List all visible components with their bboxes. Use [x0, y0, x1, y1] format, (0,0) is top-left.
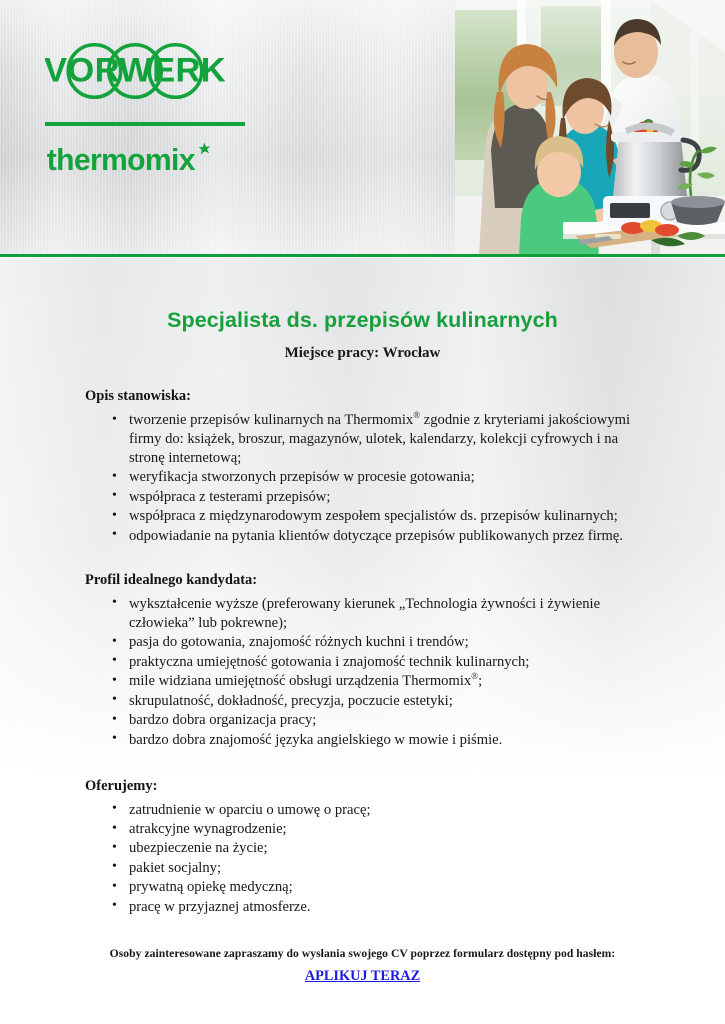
- section-offer: Oferujemy: zatrudnienie w oparciu o umow…: [0, 778, 725, 917]
- list-item-text: weryfikacja stworzonych przepisów w proc…: [129, 469, 475, 485]
- list-item: praktyczna umiejętność gotowania i znajo…: [112, 653, 655, 672]
- duties-list: tworzenie przepisów kulinarnych na Therm…: [0, 411, 725, 546]
- vorwerk-logo: VORWERK: [45, 40, 225, 102]
- list-item: zatrudnienie w oparciu o umowę o pracę;: [112, 801, 655, 820]
- page-title: Specjalista ds. przepisów kulinarnych: [0, 308, 725, 333]
- list-item-text: pasja do gotowania, znajomość różnych ku…: [129, 634, 469, 650]
- header-green-rule: [0, 254, 725, 257]
- section-duties: Opis stanowiska: tworzenie przepisów kul…: [0, 388, 725, 546]
- brand-divider-rule: [45, 122, 245, 126]
- call-to-action: Osoby zainteresowane zapraszamy do wysła…: [0, 947, 725, 985]
- cta-text: Osoby zainteresowane zapraszamy do wysła…: [0, 947, 725, 960]
- list-item: współpraca z międzynarodowym zespołem sp…: [112, 507, 655, 526]
- list-item: pakiet socjalny;: [112, 859, 655, 878]
- registered-trademark-symbol: ®: [413, 410, 420, 420]
- job-location: Miejsce pracy: Wrocław: [0, 345, 725, 362]
- list-item-text: pakiet socjalny;: [129, 860, 221, 876]
- list-item: weryfikacja stworzonych przepisów w proc…: [112, 468, 655, 487]
- section-profile: Profil idealnego kandydata: wykształceni…: [0, 572, 725, 750]
- list-item: mile widziana umiejętność obsługi urządz…: [112, 672, 655, 691]
- list-item-text: bardzo dobra organizacja pracy;: [129, 712, 316, 728]
- profile-list: wykształcenie wyższe (preferowany kierun…: [0, 595, 725, 750]
- list-item: współpraca z testerami przepisów;: [112, 488, 655, 507]
- list-item-text: wykształcenie wyższe (preferowany kierun…: [129, 596, 600, 631]
- list-item: tworzenie przepisów kulinarnych na Therm…: [112, 411, 655, 468]
- list-item-text: ubezpieczenie na życie;: [129, 840, 268, 856]
- list-item: wykształcenie wyższe (preferowany kierun…: [112, 595, 655, 633]
- section-heading-profile: Profil idealnego kandydata:: [85, 572, 725, 589]
- thermomix-logo: thermomix: [45, 140, 245, 178]
- star-dot-icon: [199, 143, 211, 155]
- job-posting-page: VORWERK thermomix: [0, 0, 725, 1024]
- list-item: bardzo dobra znajomość języka angielskie…: [112, 731, 655, 750]
- list-item-text: zatrudnienie w oparciu o umowę o pracę;: [129, 802, 371, 818]
- brand-lockup: VORWERK: [45, 40, 275, 102]
- list-item: prywatną opiekę medyczną;: [112, 878, 655, 897]
- list-item: pasja do gotowania, znajomość różnych ku…: [112, 633, 655, 652]
- list-item-text: praktyczna umiejętność gotowania i znajo…: [129, 654, 529, 670]
- list-item-text: współpraca z międzynarodowym zespołem sp…: [129, 508, 618, 524]
- registered-trademark-symbol: ®: [471, 671, 478, 681]
- family-kitchen-photo: [455, 0, 725, 256]
- list-item: bardzo dobra organizacja pracy;: [112, 711, 655, 730]
- job-content: Specjalista ds. przepisów kulinarnych Mi…: [0, 258, 725, 985]
- section-heading-offer: Oferujemy:: [85, 778, 725, 795]
- list-item-text: skrupulatność, dokładność, precyzja, poc…: [129, 693, 453, 709]
- section-heading-duties: Opis stanowiska:: [85, 388, 725, 405]
- list-item: pracę w przyjaznej atmosferze.: [112, 898, 655, 917]
- list-item: odpowiadanie na pytania klientów dotyczą…: [112, 527, 655, 546]
- header-banner: VORWERK thermomix: [0, 0, 725, 256]
- list-item-text: pracę w przyjaznej atmosferze.: [129, 899, 311, 915]
- thermomix-wordmark: thermomix: [47, 144, 196, 177]
- list-item-text: bardzo dobra znajomość języka angielskie…: [129, 732, 502, 748]
- list-item-text: prywatną opiekę medyczną;: [129, 879, 293, 895]
- list-item: skrupulatność, dokładność, precyzja, poc…: [112, 692, 655, 711]
- apply-now-link[interactable]: APLIKUJ TERAZ: [305, 968, 420, 985]
- list-item-text: współpraca z testerami przepisów;: [129, 489, 330, 505]
- offer-list: zatrudnienie w oparciu o umowę o pracę; …: [0, 801, 725, 917]
- list-item-text: mile widziana umiejętność obsługi urządz…: [129, 673, 482, 689]
- list-item-text: tworzenie przepisów kulinarnych na Therm…: [129, 412, 630, 466]
- list-item-text: odpowiadanie na pytania klientów dotyczą…: [129, 528, 623, 544]
- vorwerk-wordmark: VORWERK: [45, 52, 225, 90]
- list-item-text: atrakcyjne wynagrodzenie;: [129, 821, 287, 837]
- list-item: atrakcyjne wynagrodzenie;: [112, 820, 655, 839]
- list-item: ubezpieczenie na życie;: [112, 839, 655, 858]
